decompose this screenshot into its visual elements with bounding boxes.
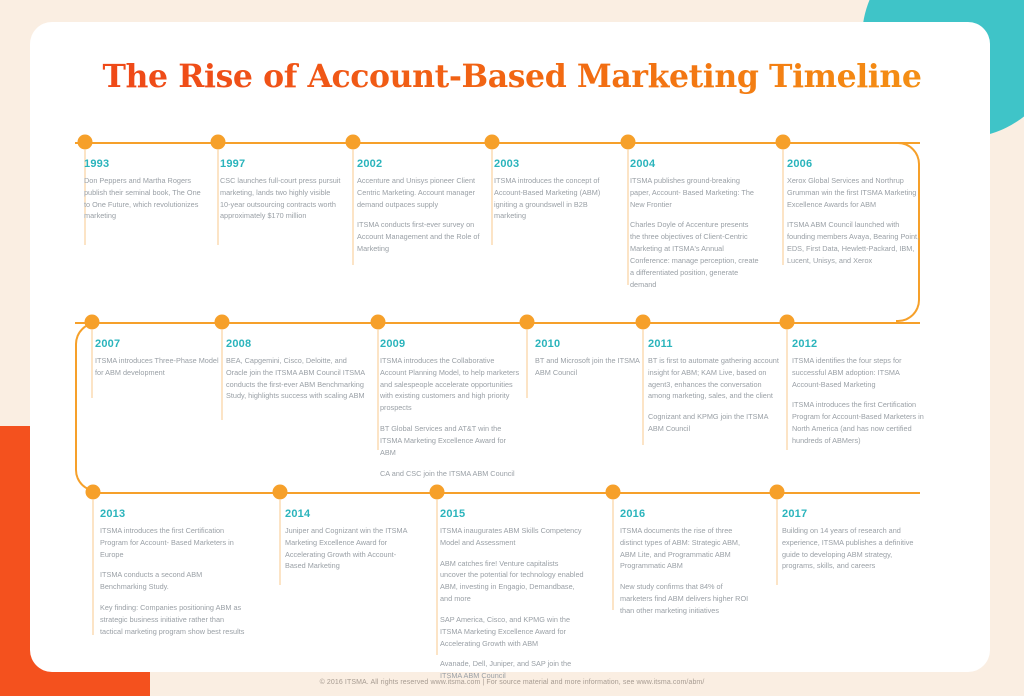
timeline-entry-2006: 2006Xerox Global Services and Northrup G… [787,158,922,267]
timeline-entry-2008: 2008BEA, Capgemini, Cisco, Deloitte, and… [226,338,366,402]
timeline-entry-1993: 1993Don Peppers and Martha Rogers publis… [84,158,206,222]
infographic-page: The Rise of Account-Based Marketing Time… [0,0,1024,696]
entry-paragraph: Don Peppers and Martha Rogers publish th… [84,175,206,222]
entry-year: 1997 [220,158,342,170]
entry-paragraph: Charles Doyle of Accenture presents the … [630,219,760,290]
entry-paragraph: CA and CSC join the ITSMA ABM Council [380,468,520,480]
timeline-node-2015[interactable] [430,485,445,500]
entry-paragraph: ITSMA ABM Council launched with founding… [787,219,922,266]
entry-year: 2013 [100,508,248,520]
entry-year: 2006 [787,158,922,170]
timeline-entry-2016: 2016ITSMA documents the rise of three di… [620,508,755,617]
timeline-tick [378,330,379,450]
timeline-node-2007[interactable] [85,315,100,330]
entry-paragraph: BT and Microsoft join the ITSMA ABM Coun… [535,355,643,379]
timeline-tick [437,500,438,655]
entry-paragraph: ITSMA introduces Three-Phase Model for A… [95,355,223,379]
entry-year: 1993 [84,158,206,170]
timeline-entry-2014: 2014Juniper and Cognizant win the ITSMA … [285,508,415,572]
timeline-tick [527,330,528,398]
timeline-node-2013[interactable] [86,485,101,500]
entry-paragraph: ITSMA conducts first-ever survey on Acco… [357,219,487,254]
entry-paragraph: Juniper and Cognizant win the ITSMA Mark… [285,525,415,572]
entry-paragraph: Accenture and Unisys pioneer Client Cent… [357,175,487,210]
timeline-tick [643,330,644,445]
entry-paragraph: ITSMA conducts a second ABM Benchmarking… [100,569,248,593]
footer-credit: © 2016 ITSMA. All rights reserved www.it… [0,679,1024,686]
timeline-entry-2003: 2003ITSMA introduces the concept of Acco… [494,158,619,222]
timeline-node-2009[interactable] [371,315,386,330]
entry-year: 2017 [782,508,924,520]
timeline-entry-2009: 2009ITSMA introduces the Collaborative A… [380,338,520,479]
entry-paragraph: ITSMA introduces the concept of Account-… [494,175,619,222]
timeline-node-2016[interactable] [606,485,621,500]
timeline-tick [628,150,629,285]
entry-year: 2010 [535,338,643,350]
entry-year: 2008 [226,338,366,350]
entry-paragraph: BEA, Capgemini, Cisco, Deloitte, and Ora… [226,355,366,402]
timeline-tick [613,500,614,610]
timeline-entry-2002: 2002Accenture and Unisys pioneer Client … [357,158,487,255]
entry-paragraph: Xerox Global Services and Northrup Grumm… [787,175,922,210]
timeline-node-2014[interactable] [273,485,288,500]
page-title: The Rise of Account-Based Marketing Time… [0,58,1024,95]
entry-paragraph: ITSMA documents the rise of three distin… [620,525,755,572]
timeline-entry-2012: 2012ITSMA identifies the four steps for … [792,338,927,447]
timeline-tick [93,500,94,635]
entry-paragraph: ITSMA identifies the four steps for succ… [792,355,927,390]
timeline-tick [492,150,493,245]
entry-paragraph: New study confirms that 84% of marketers… [620,581,755,616]
timeline-tick [280,500,281,585]
entry-paragraph: ITSMA introduces the Collaborative Accou… [380,355,520,414]
timeline-tick [787,330,788,450]
timeline-entry-2007: 2007ITSMA introduces Three-Phase Model f… [95,338,223,379]
entry-year: 2011 [648,338,780,350]
entry-paragraph: BT is first to automate gathering accoun… [648,355,780,402]
timeline-tick [783,150,784,265]
timeline-rail [88,492,920,494]
timeline-entry-2004: 2004ITSMA publishes ground-breaking pape… [630,158,760,290]
timeline-node-2017[interactable] [770,485,785,500]
entry-paragraph: Key finding: Companies positioning ABM a… [100,602,248,637]
timeline-tick [353,150,354,265]
entry-year: 2009 [380,338,520,350]
entry-paragraph: CSC launches full-court press pursuit ma… [220,175,342,222]
timeline-node-2002[interactable] [346,135,361,150]
entry-year: 2004 [630,158,760,170]
entry-paragraph: ITSMA introduces the first Certification… [100,525,248,560]
timeline-tick [777,500,778,585]
entry-paragraph: BT Global Services and AT&T win the ITSM… [380,423,520,458]
timeline-node-2004[interactable] [621,135,636,150]
timeline-entry-1997: 1997CSC launches full-court press pursui… [220,158,342,222]
entry-paragraph: SAP America, Cisco, and KPMG win the ITS… [440,614,585,649]
timeline-entry-2011: 2011BT is first to automate gathering ac… [648,338,780,435]
timeline-entry-2015: 2015ITSMA inaugurates ABM Skills Compete… [440,508,585,682]
timeline-tick [92,330,93,398]
entry-paragraph: ITSMA inaugurates ABM Skills Competency … [440,525,585,549]
timeline-node-2006[interactable] [776,135,791,150]
timeline-tick [218,150,219,245]
entry-year: 2003 [494,158,619,170]
entry-year: 2012 [792,338,927,350]
entry-year: 2016 [620,508,755,520]
timeline-tick [222,330,223,420]
timeline-node-2011[interactable] [636,315,651,330]
timeline-entry-2010: 2010BT and Microsoft join the ITSMA ABM … [535,338,643,379]
timeline-node-2010[interactable] [520,315,535,330]
timeline-entry-2017: 2017Building on 14 years of research and… [782,508,924,572]
timeline-node-1997[interactable] [211,135,226,150]
entry-year: 2014 [285,508,415,520]
entry-paragraph: ITSMA publishes ground-breaking paper, A… [630,175,760,210]
timeline-node-2008[interactable] [215,315,230,330]
entry-paragraph: ABM catches fire! Venture capitalists un… [440,558,585,605]
entry-year: 2015 [440,508,585,520]
entry-year: 2002 [357,158,487,170]
timeline-node-1993[interactable] [78,135,93,150]
timeline-node-2003[interactable] [485,135,500,150]
timeline-node-2012[interactable] [780,315,795,330]
entry-paragraph: Cognizant and KPMG join the ITSMA ABM Co… [648,411,780,435]
entry-paragraph: ITSMA introduces the first Certification… [792,399,927,446]
entry-year: 2007 [95,338,223,350]
timeline-entry-2013: 2013ITSMA introduces the first Certifica… [100,508,248,638]
entry-paragraph: Building on 14 years of research and exp… [782,525,924,572]
